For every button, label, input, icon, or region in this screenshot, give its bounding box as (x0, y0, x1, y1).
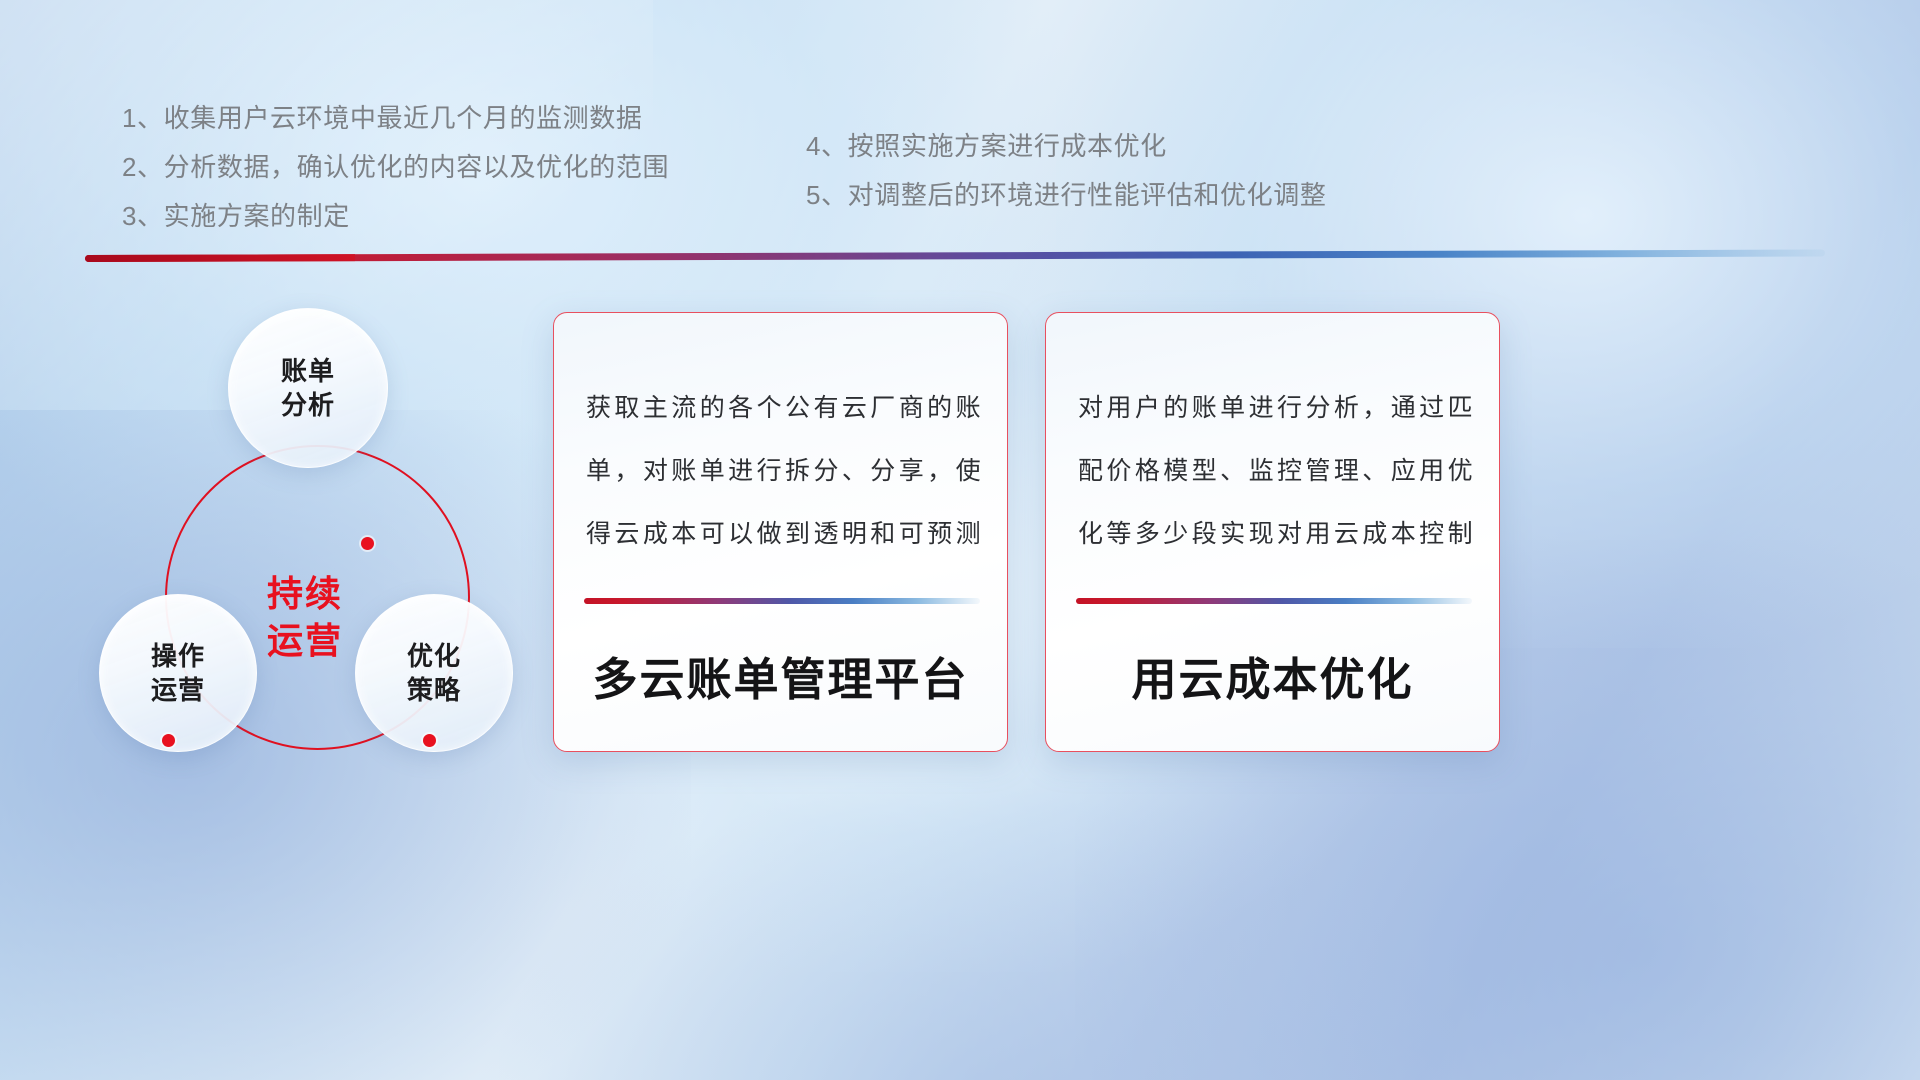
bubble-optimization-strategy[interactable]: 优化 策略 (355, 594, 513, 752)
steps-list-left: 1、收集用户云环境中最近几个月的监测数据 2、分析数据，确认优化的内容以及优化的… (122, 94, 669, 241)
card-2-accent-rule (1076, 598, 1472, 604)
card-1-line-1: 获取主流的各个公有云厂商的账 (586, 377, 981, 440)
card-2-title: 用云成本优化 (1046, 643, 1499, 708)
card-2-line-2: 配价格模型、监控管理、应用优 (1078, 440, 1473, 503)
node-dot-top-icon (361, 537, 374, 550)
bubble-operation-ops[interactable]: 操作 运营 (99, 594, 257, 752)
card-2-line-1: 对用户的账单进行分析，通过匹 (1078, 377, 1473, 440)
card-1-body: 获取主流的各个公有云厂商的账 单，对账单进行拆分、分享，使 得云成本可以做到透明… (586, 377, 981, 566)
card-1-accent-rule (584, 598, 980, 604)
bubble-operation-ops-line-2: 运营 (151, 673, 205, 707)
feature-card-cloud-cost-optimization[interactable]: 对用户的账单进行分析，通过匹 配价格模型、监控管理、应用优 化等多少段实现对用云… (1045, 312, 1500, 752)
card-1-line-2: 单，对账单进行拆分、分享，使 (586, 440, 981, 503)
steps-list-right: 4、按照实施方案进行成本优化 5、对调整后的环境进行性能评估和优化调整 (806, 122, 1326, 220)
card-2-body: 对用户的账单进行分析，通过匹 配价格模型、监控管理、应用优 化等多少段实现对用云… (1078, 377, 1473, 566)
bubble-bill-analysis-line-1: 账单 (281, 354, 335, 388)
step-item-1: 1、收集用户云环境中最近几个月的监测数据 (122, 94, 669, 143)
step-item-2: 2、分析数据，确认优化的内容以及优化的范围 (122, 143, 669, 192)
card-1-line-3: 得云成本可以做到透明和可预测 (586, 503, 981, 566)
node-dot-right-icon (423, 734, 436, 747)
bubble-optimization-strategy-line-1: 优化 (407, 639, 461, 673)
step-item-5: 5、对调整后的环境进行性能评估和优化调整 (806, 171, 1326, 220)
card-1-title: 多云账单管理平台 (554, 643, 1007, 708)
background-shade-bottom (499, 778, 1459, 1080)
continuous-operations-diagram: 账单 分析 操作 运营 优化 策略 持续 运营 (85, 290, 525, 770)
node-dot-left-icon (162, 734, 175, 747)
card-2-line-3: 化等多少段实现对用云成本控制 (1078, 503, 1473, 566)
bubble-bill-analysis-line-2: 分析 (281, 388, 335, 422)
step-item-4: 4、按照实施方案进行成本优化 (806, 122, 1326, 171)
bubble-bill-analysis[interactable]: 账单 分析 (228, 308, 388, 468)
feature-card-multicloud-billing[interactable]: 获取主流的各个公有云厂商的账 单，对账单进行拆分、分享，使 得云成本可以做到透明… (553, 312, 1008, 752)
bubble-operation-ops-line-1: 操作 (151, 639, 205, 673)
step-item-3: 3、实施方案的制定 (122, 192, 669, 241)
bubble-optimization-strategy-line-2: 策略 (407, 673, 461, 707)
